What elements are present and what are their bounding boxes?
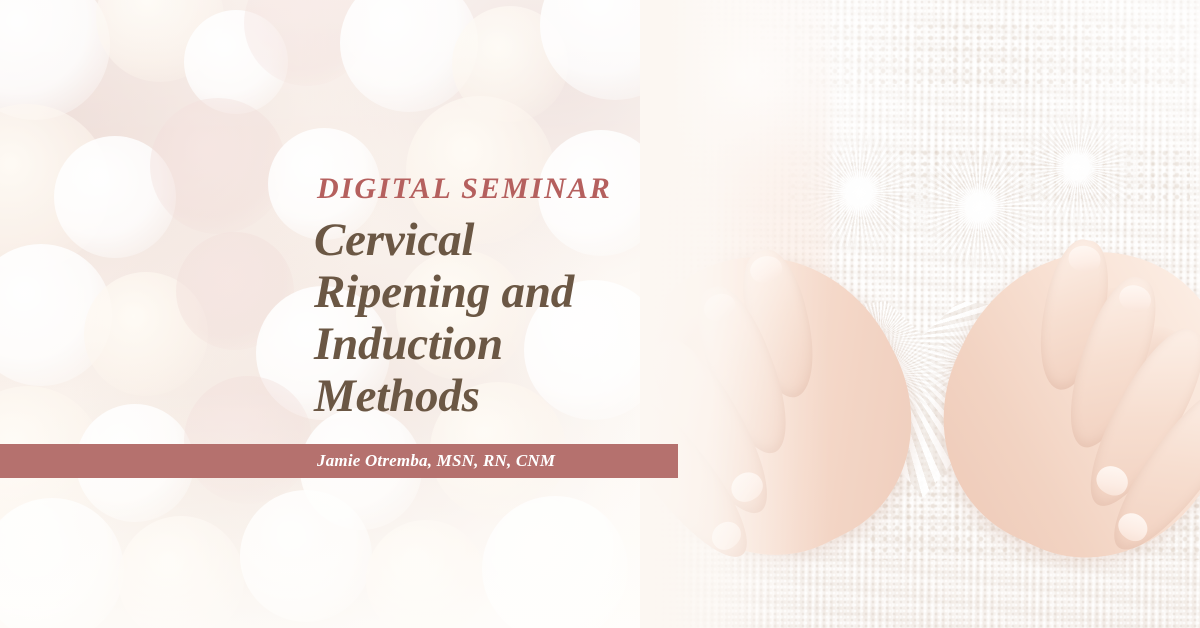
title-line-3: Induction	[314, 318, 574, 370]
title-line-2: Ripening and	[314, 266, 574, 318]
text-block: DIGITAL SEMINAR Cervical Ripening and In…	[317, 0, 737, 628]
title-line-1: Cervical	[314, 214, 574, 266]
page-title: Cervical Ripening and Induction Methods	[314, 214, 574, 422]
eyebrow-label: DIGITAL SEMINAR	[317, 172, 612, 206]
author-credentials: Jamie Otremba, MSN, RN, CNM	[317, 444, 555, 478]
promo-banner: DIGITAL SEMINAR Cervical Ripening and In…	[0, 0, 1200, 628]
title-line-4: Methods	[314, 370, 574, 422]
